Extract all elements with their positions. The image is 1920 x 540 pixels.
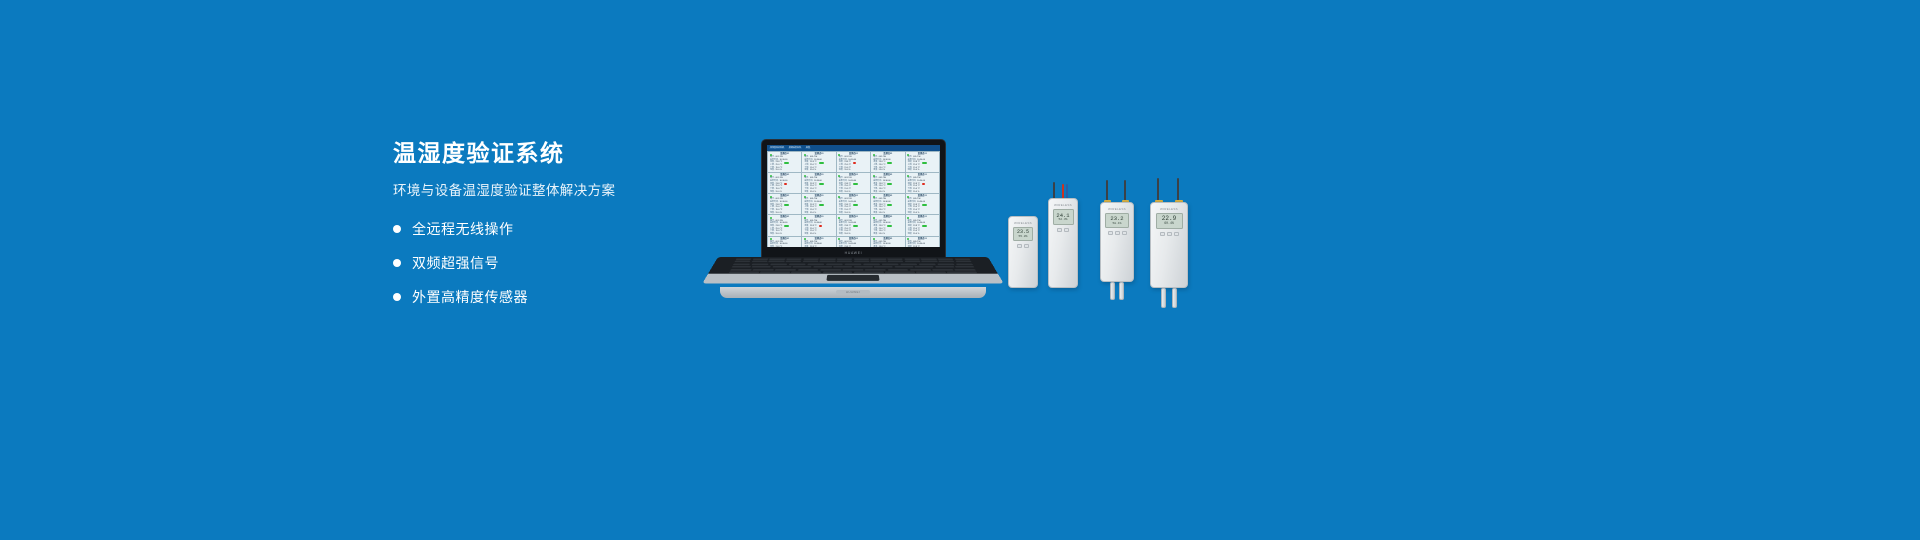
banner-text-block: 温湿度验证系统 环境与设备温湿度验证整体解决方案 全远程无线操作 双频超强信号 … bbox=[393, 140, 723, 321]
keyboard-key[interactable] bbox=[871, 261, 887, 263]
keyboard-key[interactable] bbox=[769, 258, 785, 259]
monitor-card-row: 湿度:55.0 % bbox=[873, 169, 902, 172]
list-item: 全远程无线操作 bbox=[393, 219, 723, 239]
monitor-row-label: 湿度: bbox=[873, 169, 878, 172]
status-dot-icon bbox=[804, 154, 806, 156]
monitor-row-value: 55.0 % bbox=[844, 191, 850, 194]
monitor-card-rows: 编号:001-T/H采集时间:10:30:00温度:23.8 ℃上限:25.0 … bbox=[906, 220, 939, 236]
probe-logger-4: WIRELESS 22.9 60.4% bbox=[1150, 202, 1188, 288]
keyboard-row bbox=[734, 261, 972, 263]
keyboard-key[interactable] bbox=[733, 264, 751, 266]
status-dot-icon bbox=[873, 196, 875, 198]
status-dot-icon bbox=[873, 175, 875, 177]
keyboard-key[interactable] bbox=[865, 269, 886, 271]
keyboard-key[interactable] bbox=[752, 258, 768, 259]
monitor-card-row: 湿度:55.0 % bbox=[770, 169, 799, 172]
monitor-row-label: 湿度: bbox=[873, 212, 878, 215]
keyboard-key[interactable] bbox=[887, 258, 903, 259]
monitor-row-label: 湿度: bbox=[770, 212, 775, 215]
monitor-card[interactable]: 监测点01编号:001-T/H采集时间:10:30:00温度:23.8 ℃上限:… bbox=[768, 215, 801, 235]
monitor-row-value: 55.0 % bbox=[810, 169, 816, 172]
monitor-card-rows: 编号:001-T/H采集时间:10:30:00温度:23.8 ℃上限:25.0 … bbox=[837, 220, 870, 236]
status-dot-icon bbox=[770, 196, 772, 198]
monitor-card-rows: 编号:001-T/H采集时间:10:30:00温度:23.8 ℃上限:25.0 … bbox=[871, 198, 904, 214]
monitor-card-row: 湿度:55.0 % bbox=[908, 212, 937, 215]
keyboard-key[interactable] bbox=[904, 258, 920, 259]
monitor-card[interactable]: 监测点01编号:001-T/H采集时间:10:30:00温度:23.8 ℃上限:… bbox=[906, 173, 939, 193]
monitor-card[interactable]: 监测点01编号:001-T/H采集时间:10:30:00温度:23.8 ℃上限:… bbox=[906, 215, 939, 235]
monitor-row-value: 55.0 % bbox=[776, 212, 782, 215]
keyboard-key[interactable] bbox=[921, 258, 937, 259]
bullet-dot-icon bbox=[393, 259, 401, 267]
monitor-card-rows: 编号:001-T/H采集时间:10:30:00温度:23.8 ℃上限:25.0 … bbox=[906, 177, 939, 193]
keyboard-key[interactable] bbox=[937, 264, 955, 266]
monitor-card-rows: 编号:001-T/H采集时间:10:30:00温度:23.8 ℃上限:25.0 … bbox=[768, 198, 801, 214]
device-lcd: 23.5 55.0% bbox=[1013, 227, 1033, 241]
monitor-row-value: 55.0 % bbox=[776, 233, 782, 236]
feature-label: 双频超强信号 bbox=[412, 253, 499, 273]
laptop-screen: 温湿度验证系统 数据采集监控 报警 监测点01编号:001-T/H采集时间:10… bbox=[767, 145, 940, 247]
monitor-card-rows: 编号:001-T/H采集时间:10:30:00温度:23.8 ℃上限:25.0 … bbox=[802, 220, 835, 236]
monitor-card-rows: 编号:001-T/H采集时间:10:30:00温度:23.8 ℃上限:25.0 … bbox=[768, 220, 801, 236]
monitor-card[interactable]: 监测点01编号:001-T/H采集时间:10:30:00温度:23.8 ℃上限:… bbox=[871, 215, 904, 235]
keyboard-key[interactable] bbox=[751, 261, 767, 263]
device-brand: WIRELESS bbox=[1160, 207, 1178, 211]
ok-indicator-icon bbox=[784, 204, 789, 206]
keyboard-key[interactable] bbox=[813, 266, 832, 268]
feature-label: 全远程无线操作 bbox=[412, 219, 514, 239]
monitor-row-label: 湿度: bbox=[908, 212, 913, 215]
keyboard[interactable] bbox=[729, 258, 978, 273]
monitor-row-label: 湿度: bbox=[908, 191, 913, 194]
device-key[interactable] bbox=[1108, 231, 1113, 235]
monitor-card-row: 湿度:55.0 % bbox=[908, 169, 937, 172]
keyboard-key[interactable] bbox=[854, 272, 884, 274]
keyboard-key[interactable] bbox=[954, 269, 976, 271]
topbar-item[interactable]: 温湿度验证系统 bbox=[769, 147, 785, 149]
keyboard-row bbox=[729, 272, 978, 274]
keyboard-key[interactable] bbox=[956, 261, 972, 263]
topbar-item[interactable]: 报警 bbox=[805, 147, 811, 149]
alarm-indicator-icon bbox=[853, 162, 856, 164]
monitor-card-row: 湿度:55.0 % bbox=[770, 212, 799, 215]
monitor-row-label: 湿度: bbox=[839, 169, 844, 172]
monitor-row-label: 湿度: bbox=[908, 233, 913, 236]
monitor-card[interactable]: 监测点01编号:001-T/H采集时间:10:30:00温度:23.8 ℃上限:… bbox=[871, 237, 904, 247]
keyboard-key[interactable] bbox=[918, 264, 936, 266]
monitor-row-label: 湿度: bbox=[804, 169, 809, 172]
device-key[interactable] bbox=[1064, 228, 1069, 232]
ok-indicator-icon bbox=[819, 162, 824, 164]
topbar-item[interactable]: 数据采集监控 bbox=[788, 147, 802, 149]
keyboard-key[interactable] bbox=[854, 258, 869, 259]
device-keypad[interactable] bbox=[1057, 228, 1069, 232]
monitor-row-label: 湿度: bbox=[839, 212, 844, 215]
monitor-row-label: 湿度: bbox=[804, 191, 809, 194]
monitor-card[interactable]: 监测点01编号:001-T/H采集时间:10:30:00温度:23.8 ℃上限:… bbox=[768, 194, 801, 214]
monitor-card[interactable]: 监测点01编号:001-T/H采集时间:10:30:00温度:23.8 ℃上限:… bbox=[768, 173, 801, 193]
keyboard-row bbox=[735, 258, 970, 259]
status-dot-icon bbox=[770, 175, 772, 177]
keyboard-key[interactable] bbox=[775, 269, 796, 271]
keyboard-key[interactable] bbox=[768, 261, 784, 263]
monitor-card[interactable]: 监测点01编号:001-T/H采集时间:10:30:00温度:23.8 ℃上限:… bbox=[871, 152, 904, 172]
keyboard-key[interactable] bbox=[751, 264, 769, 266]
monitor-row-value: 55.0 % bbox=[810, 233, 816, 236]
laptop-base-badge: HUAWEI bbox=[836, 290, 870, 294]
keyboard-key[interactable] bbox=[729, 272, 759, 274]
keyboard-key[interactable] bbox=[844, 264, 861, 266]
monitor-card[interactable]: 监测点01编号:001-T/H采集时间:10:30:00温度:23.8 ℃上限:… bbox=[802, 173, 835, 193]
monitor-row-label: 湿度: bbox=[770, 191, 775, 194]
sensor-probe bbox=[1119, 282, 1124, 300]
monitor-card-rows: 编号:001-T/H采集时间:10:30:00温度:23.8 ℃上限:25.0 … bbox=[906, 156, 939, 172]
keyboard-row bbox=[731, 266, 974, 268]
trackpad[interactable] bbox=[826, 275, 880, 281]
ok-indicator-icon bbox=[887, 162, 892, 164]
keyboard-key[interactable] bbox=[820, 261, 836, 263]
device-brand: WIRELESS bbox=[1108, 207, 1126, 211]
monitor-card-rows: 编号:001-T/H采集时间:10:30:00温度:23.8 ℃上限:25.0 … bbox=[768, 177, 801, 193]
monitor-card-row: 湿度:55.0 % bbox=[839, 191, 868, 194]
keyboard-key[interactable] bbox=[888, 261, 904, 263]
feature-label: 外置高精度传感器 bbox=[412, 287, 528, 307]
keyboard-key[interactable] bbox=[939, 261, 955, 263]
monitor-card-row: 湿度:55.0 % bbox=[873, 233, 902, 236]
keyboard-key[interactable] bbox=[802, 261, 818, 263]
keyboard-key[interactable] bbox=[826, 264, 843, 266]
monitor-card-rows: 编号:001-T/H采集时间:10:30:00温度:23.8 ℃上限:25.0 … bbox=[802, 177, 835, 193]
monitor-row-value: 55.0 % bbox=[879, 233, 885, 236]
alarm-indicator-icon bbox=[819, 225, 822, 227]
monitor-card[interactable]: 监测点01编号:001-T/H采集时间:10:30:00温度:23.8 ℃上限:… bbox=[802, 152, 835, 172]
sensor-probe bbox=[1110, 282, 1115, 300]
sensor-probe bbox=[1161, 288, 1166, 308]
monitor-card-row: 湿度:55.0 % bbox=[804, 212, 833, 215]
monitor-card[interactable]: 监测点01编号:001-T/H采集时间:10:30:00温度:23.8 ℃上限:… bbox=[906, 152, 939, 172]
monitor-card[interactable]: 监测点01编号:001-T/H采集时间:10:30:00温度:23.8 ℃上限:… bbox=[837, 194, 870, 214]
ok-indicator-icon bbox=[853, 204, 858, 206]
keyboard-key[interactable] bbox=[803, 258, 819, 259]
keyboard-key[interactable] bbox=[820, 269, 841, 271]
keyboard-key[interactable] bbox=[954, 258, 970, 259]
monitor-card-row: 湿度:55.0 % bbox=[839, 233, 868, 236]
lcd-humidity: 55.0% bbox=[1018, 235, 1027, 238]
keyboard-key[interactable] bbox=[932, 269, 954, 271]
monitor-card-row: 湿度:55.0 % bbox=[804, 191, 833, 194]
monitor-card-row: 湿度:55.0 % bbox=[839, 212, 868, 215]
device-lcd: 23.2 58.1% bbox=[1105, 213, 1129, 228]
list-item: 外置高精度传感器 bbox=[393, 287, 723, 307]
page-title: 温湿度验证系统 bbox=[393, 140, 723, 168]
sensor-probe bbox=[1172, 288, 1177, 308]
monitor-card-rows: 编号:001-T/H采集时间:10:30:00温度:23.8 ℃上限:25.0 … bbox=[871, 156, 904, 172]
monitor-row-label: 湿度: bbox=[873, 191, 878, 194]
keyboard-key[interactable] bbox=[894, 266, 913, 268]
monitor-card[interactable]: 监测点01编号:001-T/H采集时间:10:30:00温度:23.8 ℃上限:… bbox=[871, 173, 904, 193]
laptop-keyboard-deck bbox=[702, 257, 1003, 283]
monitor-row-label: 湿度: bbox=[804, 233, 809, 236]
keyboard-key[interactable] bbox=[753, 269, 775, 271]
device-key[interactable] bbox=[1174, 232, 1179, 236]
ok-indicator-icon bbox=[922, 204, 927, 206]
keyboard-key[interactable] bbox=[760, 272, 790, 274]
keyboard-key[interactable] bbox=[752, 266, 771, 268]
monitor-row-label: 湿度: bbox=[839, 233, 844, 236]
keyboard-key[interactable] bbox=[820, 258, 836, 259]
ok-indicator-icon bbox=[819, 183, 824, 185]
keyboard-key[interactable] bbox=[887, 269, 908, 271]
monitor-card-row: 湿度:55.0 % bbox=[804, 233, 833, 236]
status-dot-icon bbox=[873, 217, 875, 219]
probe-logger-3: WIRELESS 23.2 58.1% bbox=[1100, 202, 1134, 282]
alarm-indicator-icon bbox=[922, 183, 925, 185]
monitor-card-row: 湿度:55.0 % bbox=[770, 233, 799, 236]
product-banner: 温湿度验证系统 环境与设备温湿度验证整体解决方案 全远程无线操作 双频超强信号 … bbox=[0, 0, 1920, 540]
laptop-product-image: 温湿度验证系统 数据采集监控 报警 监测点01编号:001-T/H采集时间:10… bbox=[718, 140, 988, 300]
device-brand: WIRELESS bbox=[1014, 221, 1032, 225]
monitor-row-value: 55.0 % bbox=[913, 169, 919, 172]
keyboard-key[interactable] bbox=[772, 266, 791, 268]
keyboard-key[interactable] bbox=[730, 269, 752, 271]
keyboard-row bbox=[733, 264, 973, 266]
keyboard-key[interactable] bbox=[731, 266, 751, 268]
keyboard-key[interactable] bbox=[922, 261, 938, 263]
keyboard-key[interactable] bbox=[916, 272, 946, 274]
keyboard-key[interactable] bbox=[900, 264, 917, 266]
keyboard-key[interactable] bbox=[885, 272, 915, 274]
monitor-card[interactable]: 监测点01编号:001-T/H采集时间:10:30:00温度:23.8 ℃上限:… bbox=[871, 194, 904, 214]
device-keypad[interactable] bbox=[1017, 244, 1029, 248]
keyboard-row bbox=[730, 269, 976, 271]
page-subtitle: 环境与设备温湿度验证整体解决方案 bbox=[393, 182, 723, 200]
keyboard-key[interactable] bbox=[833, 266, 852, 268]
keyboard-key[interactable] bbox=[785, 261, 801, 263]
monitor-card-rows: 编号:001-T/H采集时间:10:30:00温度:23.8 ℃上限:25.0 … bbox=[871, 220, 904, 236]
device-lcd: 22.9 60.4% bbox=[1156, 213, 1183, 229]
monitor-card[interactable]: 监测点01编号:001-T/H采集时间:10:30:00温度:23.8 ℃上限:… bbox=[906, 237, 939, 247]
monitor-card-rows: 编号:001-T/H采集时间:10:30:00温度:23.8 ℃上限:25.0 … bbox=[871, 177, 904, 193]
alarm-indicator-icon bbox=[784, 183, 787, 185]
ok-indicator-icon bbox=[784, 162, 789, 164]
monitor-row-label: 湿度: bbox=[770, 233, 775, 236]
monitor-card-rows: 编号:001-T/H采集时间:10:30:00温度:23.8 ℃上限:25.0 … bbox=[802, 156, 835, 172]
monitor-card-rows: 编号:001-T/H采集时间:10:30:00温度:23.8 ℃上限:25.0 … bbox=[802, 198, 835, 214]
monitor-row-label: 湿度: bbox=[804, 212, 809, 215]
monitor-card-rows: 编号:001-T/H采集时间:10:30:00温度:23.8 ℃上限:25.0 … bbox=[837, 198, 870, 214]
monitor-row-value: 55.0 % bbox=[844, 233, 850, 236]
keyboard-key[interactable] bbox=[854, 266, 873, 268]
monitor-row-value: 55.0 % bbox=[844, 212, 850, 215]
keyboard-key[interactable] bbox=[914, 266, 933, 268]
monitor-card[interactable]: 监测点01编号:001-T/H采集时间:10:30:00温度:23.8 ℃上限:… bbox=[802, 215, 835, 235]
device-keypad[interactable] bbox=[1160, 232, 1179, 236]
keyboard-key[interactable] bbox=[786, 258, 802, 259]
ok-indicator-icon bbox=[922, 225, 927, 227]
keyboard-key[interactable] bbox=[735, 258, 751, 259]
monitor-row-value: 55.0 % bbox=[776, 191, 782, 194]
monitor-row-value: 55.0 % bbox=[879, 169, 885, 172]
status-dot-icon bbox=[770, 154, 772, 156]
monitor-row-value: 55.0 % bbox=[810, 212, 816, 215]
monitor-card-rows: 编号:001-T/H采集时间:10:30:00温度:23.8 ℃上限:25.0 … bbox=[768, 156, 801, 172]
device-key[interactable] bbox=[1024, 244, 1029, 248]
monitor-row-value: 55.0 % bbox=[879, 212, 885, 215]
device-key[interactable] bbox=[1115, 231, 1120, 235]
keyboard-key[interactable] bbox=[770, 264, 788, 266]
device-key[interactable] bbox=[1017, 244, 1022, 248]
laptop-base: HUAWEI bbox=[718, 257, 988, 300]
keyboard-key[interactable] bbox=[822, 272, 852, 274]
laptop-lid: 温湿度验证系统 数据采集监控 报警 监测点01编号:001-T/H采集时间:10… bbox=[762, 140, 945, 258]
monitor-card[interactable]: 监测点01编号:001-T/H采集时间:10:30:00温度:23.8 ℃上限:… bbox=[906, 194, 939, 214]
keyboard-key[interactable] bbox=[863, 264, 880, 266]
monitor-card-row: 湿度:55.0 % bbox=[908, 191, 937, 194]
monitor-card-row: 湿度:55.0 % bbox=[908, 233, 937, 236]
monitor-card-rows: 编号:001-T/H采集时间:10:30:00温度:23.8 ℃上限:25.0 … bbox=[906, 198, 939, 214]
feature-list: 全远程无线操作 双频超强信号 外置高精度传感器 bbox=[393, 219, 723, 307]
status-dot-icon bbox=[770, 217, 772, 219]
keyboard-key[interactable] bbox=[854, 261, 870, 263]
keyboard-key[interactable] bbox=[910, 269, 931, 271]
monitor-row-label: 湿度: bbox=[770, 169, 775, 172]
monitor-card-row: 湿度:55.0 % bbox=[839, 169, 868, 172]
monitor-card-row: 湿度:55.0 % bbox=[804, 169, 833, 172]
ok-indicator-icon bbox=[922, 162, 927, 164]
monitor-card-row: 湿度:55.0 % bbox=[873, 212, 902, 215]
monitor-row-value: 55.0 % bbox=[879, 191, 885, 194]
keyboard-key[interactable] bbox=[935, 266, 954, 268]
device-body: WIRELESS 23.5 55.0% bbox=[1008, 216, 1038, 288]
ok-indicator-icon bbox=[887, 204, 892, 206]
monitor-row-value: 55.0 % bbox=[776, 169, 782, 172]
device-key[interactable] bbox=[1160, 232, 1165, 236]
lcd-humidity: 58.1% bbox=[1112, 222, 1121, 225]
device-lcd: 24.1 52.3% bbox=[1053, 209, 1074, 225]
ok-indicator-icon bbox=[853, 225, 858, 227]
keyboard-key[interactable] bbox=[905, 261, 921, 263]
keyboard-key[interactable] bbox=[947, 272, 977, 274]
keyboard-key[interactable] bbox=[837, 258, 852, 259]
device-keypad[interactable] bbox=[1108, 231, 1127, 235]
keyboard-key[interactable] bbox=[955, 266, 975, 268]
status-dot-icon bbox=[804, 175, 806, 177]
monitor-card[interactable]: 监测点01编号:001-T/H采集时间:10:30:00温度:23.8 ℃上限:… bbox=[802, 194, 835, 214]
keyboard-key[interactable] bbox=[791, 272, 821, 274]
monitor-card-rows: 编号:001-T/H采集时间:10:30:00温度:23.8 ℃上限:25.0 … bbox=[837, 156, 870, 172]
ok-indicator-icon bbox=[887, 183, 892, 185]
keyboard-key[interactable] bbox=[874, 266, 893, 268]
keyboard-key[interactable] bbox=[870, 258, 886, 259]
monitor-card[interactable]: 监测点01编号:001-T/H采集时间:10:30:00温度:23.8 ℃上限:… bbox=[768, 152, 801, 172]
keyboard-key[interactable] bbox=[807, 264, 824, 266]
monitor-card[interactable]: 监测点01编号:001-T/H采集时间:10:30:00温度:23.8 ℃上限:… bbox=[768, 237, 801, 247]
device-body: WIRELESS 22.9 60.4% bbox=[1150, 202, 1188, 288]
monitor-card[interactable]: 监测点01编号:001-T/H采集时间:10:30:00温度:23.8 ℃上限:… bbox=[802, 237, 835, 247]
device-brand: WIRELESS bbox=[1054, 203, 1072, 207]
monitor-row-value: 55.0 % bbox=[913, 191, 919, 194]
monitor-card[interactable]: 监测点01编号:001-T/H采集时间:10:30:00温度:23.8 ℃上限:… bbox=[837, 152, 870, 172]
keyboard-key[interactable] bbox=[938, 258, 954, 259]
laptop-base-label: HUAWEI bbox=[846, 290, 860, 294]
handheld-logger-1: WIRELESS 23.5 55.0% bbox=[1008, 216, 1038, 288]
monitor-row-value: 55.0 % bbox=[844, 169, 850, 172]
monitor-card[interactable]: 监测点01编号:001-T/H采集时间:10:30:00温度:23.8 ℃上限:… bbox=[837, 215, 870, 235]
monitor-card-rows: 编号:001-T/H采集时间:10:30:00温度:23.8 ℃上限:25.0 … bbox=[837, 177, 870, 193]
lcd-humidity: 52.3% bbox=[1058, 218, 1067, 221]
monitor-row-label: 湿度: bbox=[908, 169, 913, 172]
data-logger-devices: WIRELESS 23.5 55.0% WIRELESS 24.1 52.3% bbox=[1000, 180, 1240, 310]
keyboard-key[interactable] bbox=[797, 269, 818, 271]
keyboard-key[interactable] bbox=[793, 266, 812, 268]
ok-indicator-icon bbox=[819, 204, 824, 206]
monitor-row-label: 湿度: bbox=[873, 233, 878, 236]
laptop-brand-logo: HUAWEI bbox=[845, 251, 863, 255]
ok-indicator-icon bbox=[853, 183, 858, 185]
laptop-front-edge: HUAWEI bbox=[720, 287, 986, 298]
keyboard-key[interactable] bbox=[734, 261, 750, 263]
keyboard-key[interactable] bbox=[881, 264, 898, 266]
keyboard-key[interactable] bbox=[789, 264, 806, 266]
monitor-card-row: 湿度:55.0 % bbox=[873, 191, 902, 194]
device-key[interactable] bbox=[1057, 228, 1062, 232]
monitor-row-label: 湿度: bbox=[839, 191, 844, 194]
monitor-card-row: 湿度:55.0 % bbox=[770, 191, 799, 194]
bullet-dot-icon bbox=[393, 293, 401, 301]
keyboard-key[interactable] bbox=[842, 269, 863, 271]
bullet-dot-icon bbox=[393, 225, 401, 233]
device-body: WIRELESS 24.1 52.3% bbox=[1048, 198, 1078, 288]
keyboard-key[interactable] bbox=[955, 264, 973, 266]
device-key[interactable] bbox=[1122, 231, 1127, 235]
monitor-row-value: 55.0 % bbox=[913, 233, 919, 236]
monitor-row-value: 55.0 % bbox=[810, 191, 816, 194]
monitor-card[interactable]: 监测点01编号:001-T/H采集时间:10:30:00温度:23.8 ℃上限:… bbox=[837, 173, 870, 193]
monitor-point-grid: 监测点01编号:001-T/H采集时间:10:30:00温度:23.8 ℃上限:… bbox=[767, 151, 940, 247]
list-item: 双频超强信号 bbox=[393, 253, 723, 273]
status-dot-icon bbox=[873, 154, 875, 156]
lcd-humidity: 60.4% bbox=[1164, 222, 1174, 225]
handheld-logger-2: WIRELESS 24.1 52.3% bbox=[1048, 198, 1078, 288]
keyboard-key[interactable] bbox=[837, 261, 853, 263]
monitor-row-value: 55.0 % bbox=[913, 212, 919, 215]
device-body: WIRELESS 23.2 58.1% bbox=[1100, 202, 1134, 282]
monitor-card[interactable]: 监测点01编号:001-T/H采集时间:10:30:00温度:23.8 ℃上限:… bbox=[837, 237, 870, 247]
ok-indicator-icon bbox=[784, 225, 789, 227]
device-key[interactable] bbox=[1167, 232, 1172, 236]
